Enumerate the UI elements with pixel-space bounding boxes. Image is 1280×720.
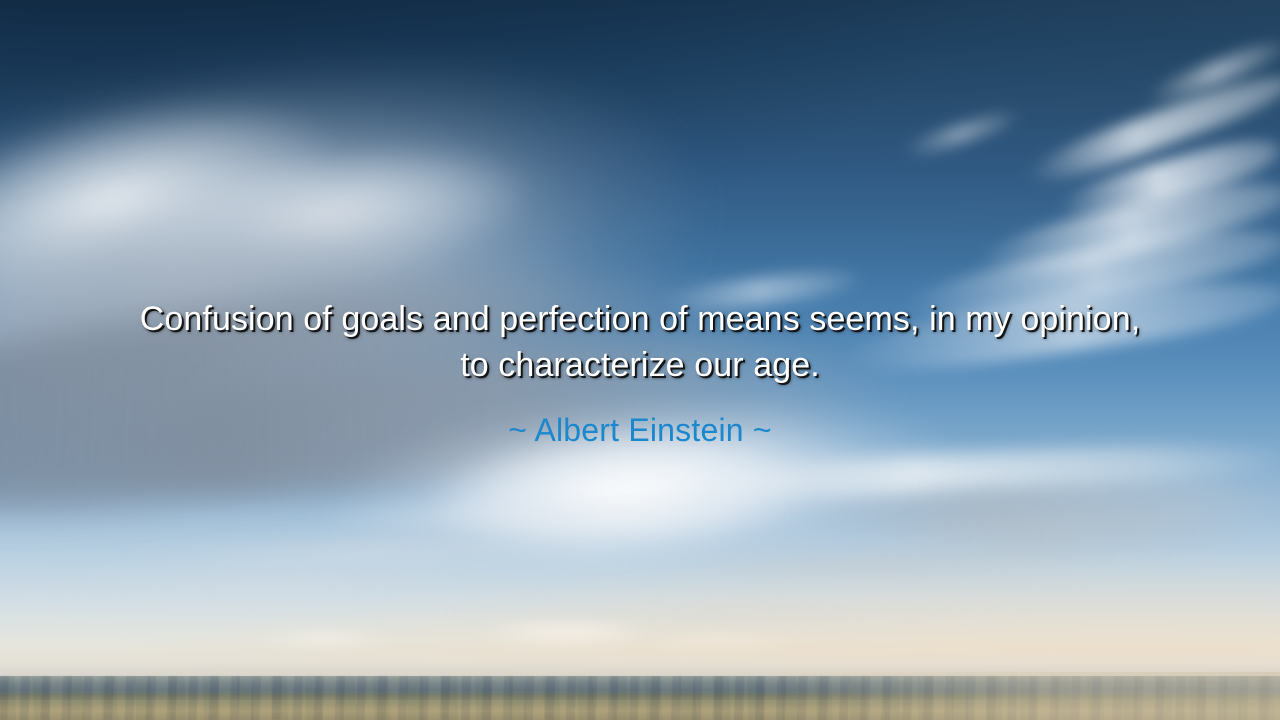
quote-block: Confusion of goals and perfection of mea… (128, 296, 1152, 450)
quote-wallpaper-scene: Confusion of goals and perfection of mea… (0, 0, 1280, 720)
quote-author: ~ Albert Einstein ~ (128, 388, 1152, 450)
quote-text: Confusion of goals and perfection of mea… (128, 296, 1152, 388)
land-near-band (0, 705, 1280, 720)
